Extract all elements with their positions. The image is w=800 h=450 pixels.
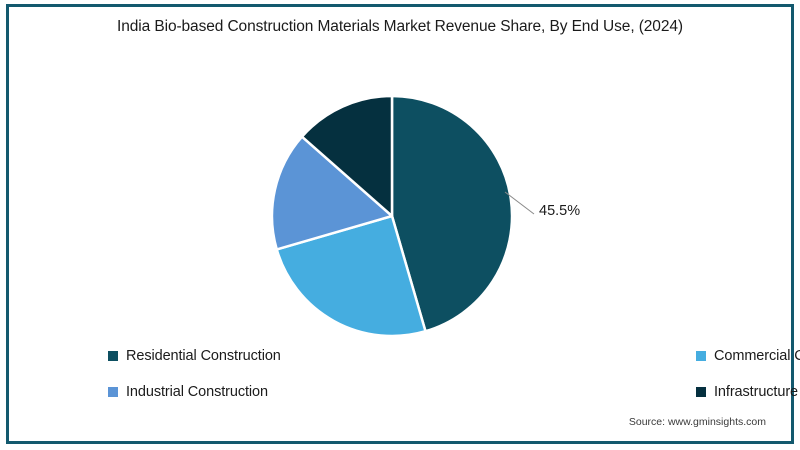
- chart-legend: Residential Construction Commercial Cons…: [108, 348, 708, 420]
- legend-row-1: Residential Construction Commercial Cons…: [108, 348, 708, 364]
- legend-label: Commercial Construction: [714, 348, 800, 364]
- source-attribution: Source: www.gminsights.com: [629, 416, 766, 428]
- legend-label: Residential Construction: [126, 348, 281, 364]
- legend-item-infrastructure-projects[interactable]: Infrastructure Projects: [408, 384, 708, 400]
- legend-label: Industrial Construction: [126, 384, 268, 400]
- legend-item-commercial-construction[interactable]: Commercial Construction: [408, 348, 708, 364]
- legend-row-2: Industrial Construction Infrastructure P…: [108, 384, 708, 400]
- legend-swatch-icon: [696, 351, 706, 361]
- legend-label: Infrastructure Projects: [714, 384, 800, 400]
- legend-item-industrial-construction[interactable]: Industrial Construction: [108, 384, 408, 400]
- legend-swatch-icon: [108, 351, 118, 361]
- chart-screenshot: India Bio-based Construction Materials M…: [0, 0, 800, 450]
- pie-slices-group: [272, 96, 512, 336]
- legend-item-residential-construction[interactable]: Residential Construction: [108, 348, 408, 364]
- legend-swatch-icon: [108, 387, 118, 397]
- slice-label-residential: 45.5%: [539, 203, 580, 219]
- legend-swatch-icon: [696, 387, 706, 397]
